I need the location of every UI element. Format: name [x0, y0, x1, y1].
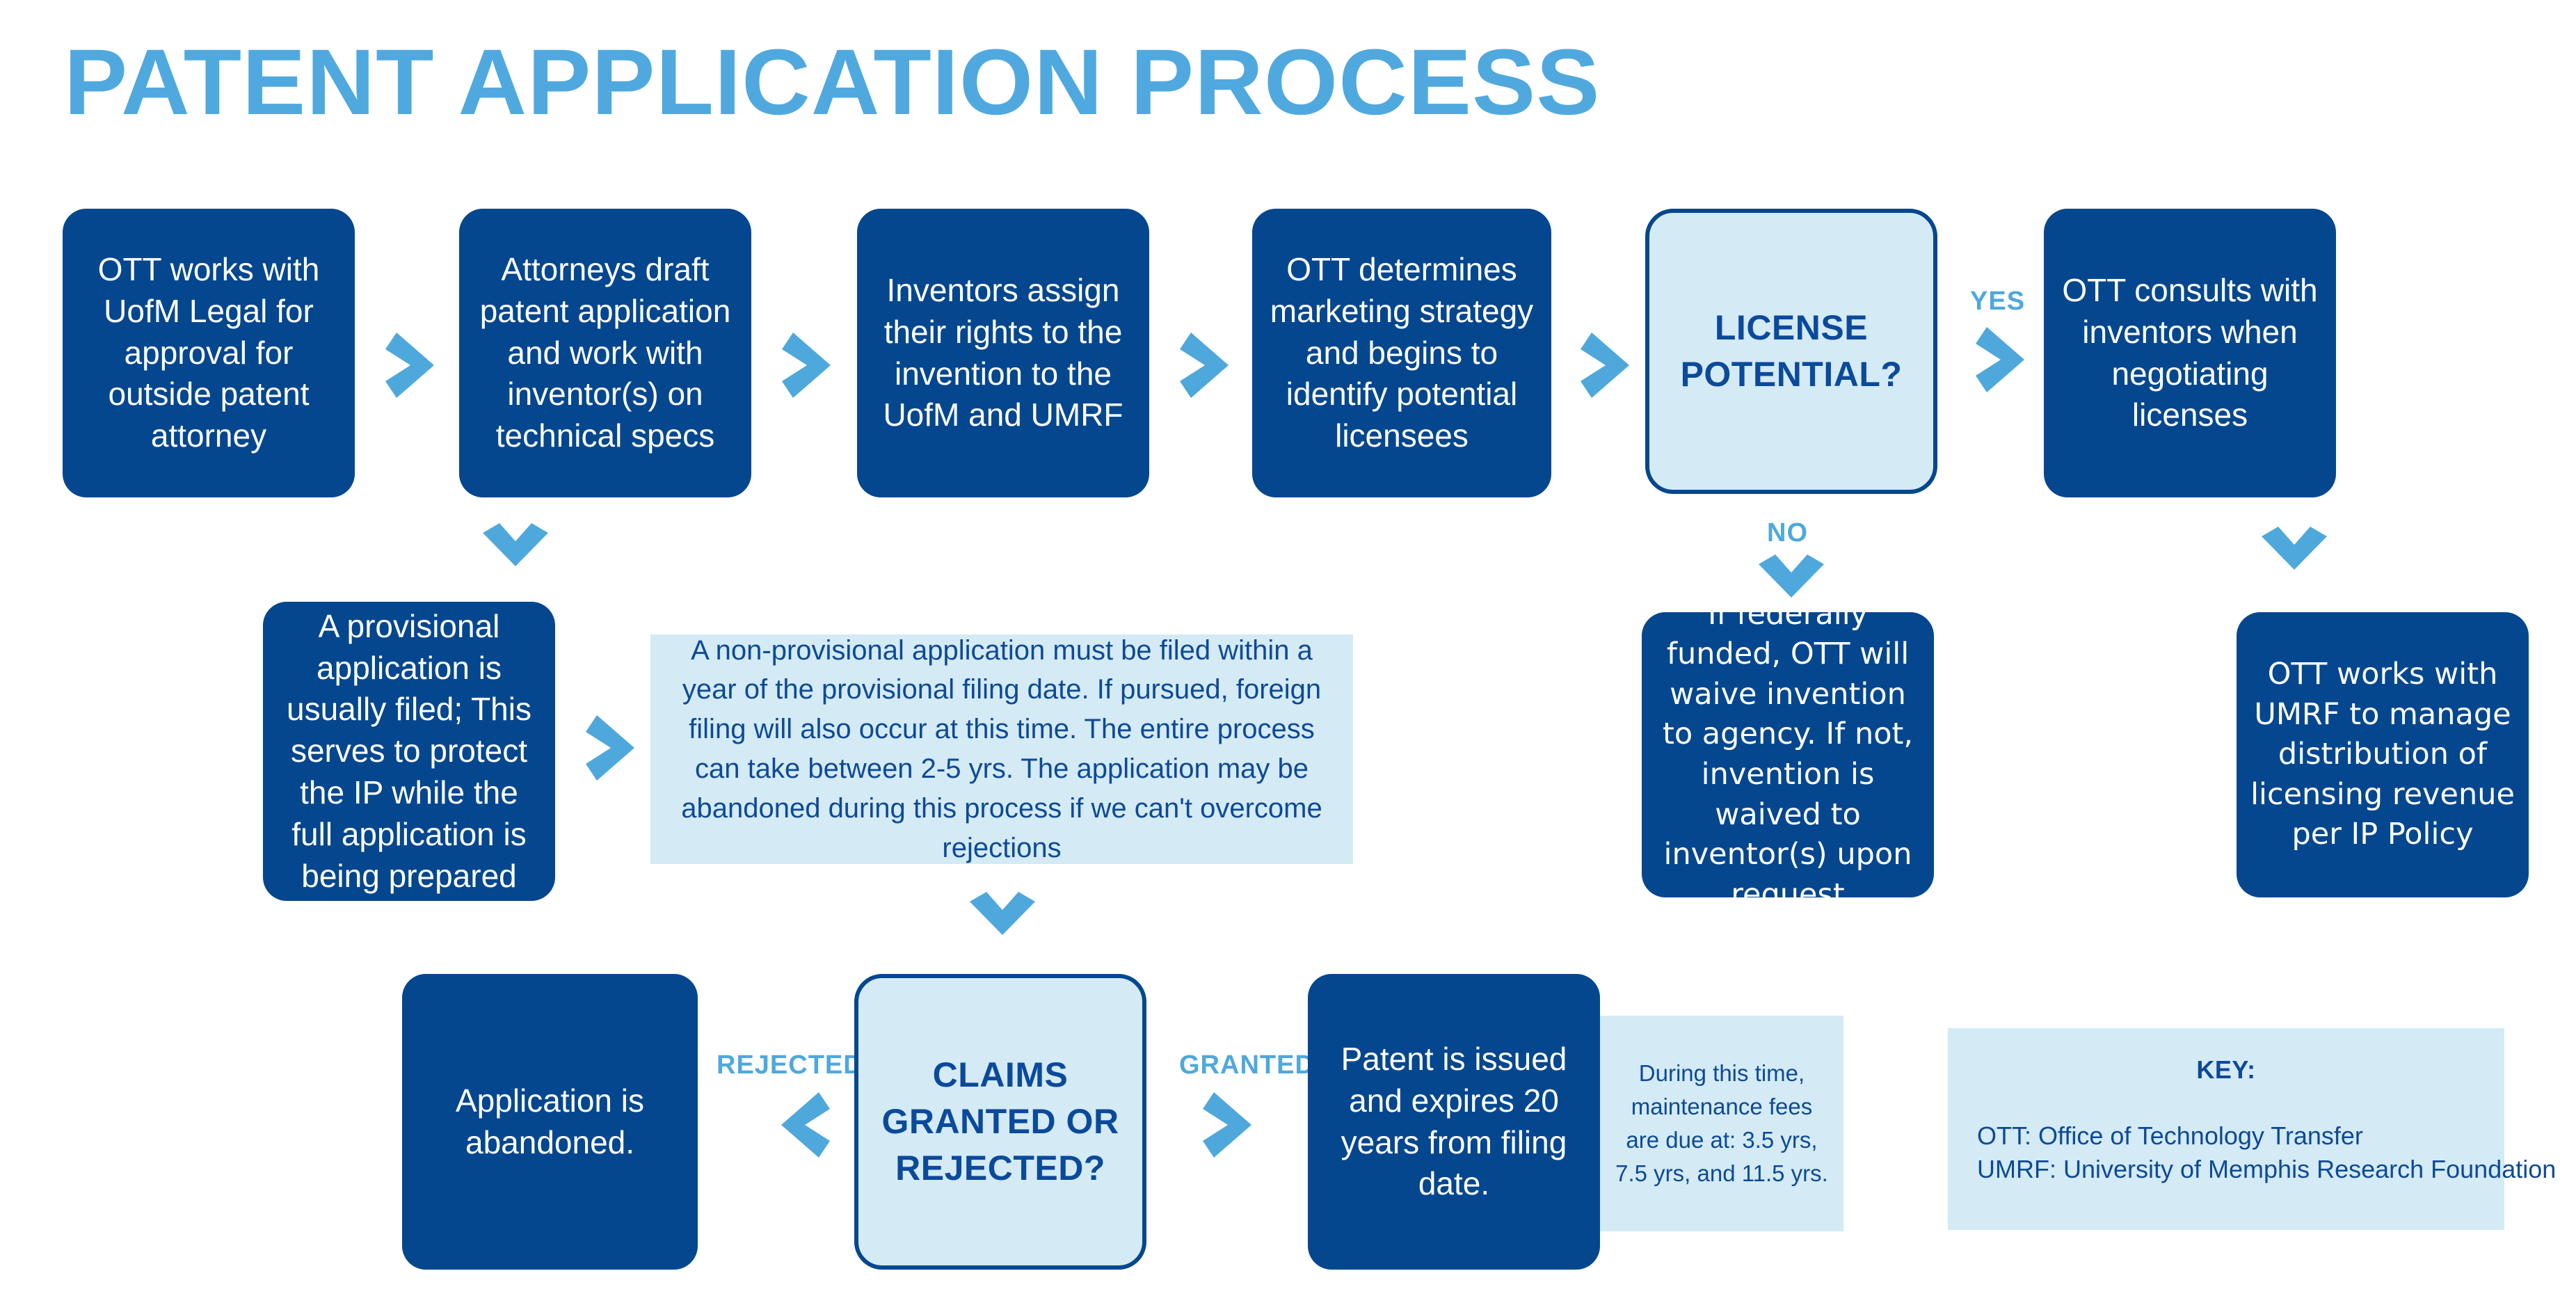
legend-line-umrf: UMRF: University of Memphis Research Fou… [1977, 1153, 2475, 1186]
branch-label-no: NO [1767, 518, 1808, 548]
arrow-right-step4-decision [1579, 327, 1652, 403]
node-step-federally-funded-label: If federally funded, OTT will waive inve… [1654, 595, 1921, 916]
note-maintenance-fees-text: During this time, maintenance fees are d… [1613, 1057, 1831, 1191]
arrow-right-step1-step2 [384, 327, 457, 403]
node-step-umrf-revenue[interactable]: OTT works with UMRF to manage distributi… [2237, 612, 2529, 897]
node-step-1-label: OTT works with UofM Legal for approval f… [75, 249, 342, 457]
node-step-provisional-application[interactable]: A provisional application is usually fil… [263, 602, 555, 901]
note-non-provisional-application-text: A non-provisional application must be fi… [663, 631, 1341, 868]
node-step-2[interactable]: Attorneys draft patent application and w… [459, 209, 751, 497]
node-step-4[interactable]: OTT determines marketing strategy and be… [1252, 209, 1551, 497]
arrow-right-provisional-note [584, 710, 657, 786]
node-step-3[interactable]: Inventors assign their rights to the inv… [857, 209, 1149, 497]
flowchart-canvas: PATENT APPLICATION PROCESS OTT works wit… [0, 0, 2576, 1303]
arrow-right-yes-negotiate [1974, 321, 2047, 398]
node-step-umrf-revenue-label: OTT works with UMRF to manage distributi… [2249, 655, 2516, 855]
node-step-application-abandoned[interactable]: Application is abandoned. [402, 974, 698, 1270]
legend-title: KEY: [1977, 1052, 2475, 1087]
legend-line-ott: OTT: Office of Technology Transfer [1977, 1119, 2475, 1153]
arrow-left-rejected-abandoned [758, 1087, 831, 1163]
node-decision-claims-granted-rejected-label: CLAIMS GRANTED OR REJECTED? [871, 1052, 1130, 1192]
node-step-application-abandoned-label: Application is abandoned. [415, 1080, 685, 1164]
branch-label-granted: GRANTED [1179, 1050, 1315, 1080]
node-decision-license-potential-label: LICENSE POTENTIAL? [1662, 305, 1921, 398]
arrow-down-step2-provisional [477, 522, 554, 584]
node-step-2-label: Attorneys draft patent application and w… [472, 249, 739, 457]
arrow-down-note-claims-decision [964, 890, 1041, 953]
node-decision-claims-granted-rejected[interactable]: CLAIMS GRANTED OR REJECTED? [854, 974, 1146, 1270]
node-step-negotiate-licenses[interactable]: OTT consults with inventors when negotia… [2044, 209, 2336, 497]
branch-label-rejected: REJECTED [717, 1050, 863, 1080]
node-step-patent-issued[interactable]: Patent is issued and expires 20 years fr… [1308, 974, 1600, 1270]
node-step-3-label: Inventors assign their rights to the inv… [870, 270, 1137, 436]
node-decision-license-potential[interactable]: LICENSE POTENTIAL? [1645, 209, 1937, 494]
note-maintenance-fees: During this time, maintenance fees are d… [1600, 1016, 1843, 1231]
arrow-right-step3-step4 [1178, 327, 1251, 403]
node-step-patent-issued-label: Patent is issued and expires 20 years fr… [1320, 1039, 1587, 1205]
node-step-federally-funded[interactable]: If federally funded, OTT will waive inve… [1642, 612, 1934, 897]
arrow-down-negotiate-umrf [2256, 525, 2333, 588]
node-step-negotiate-licenses-label: OTT consults with inventors when negotia… [2056, 270, 2323, 436]
node-step-provisional-application-label: A provisional application is usually fil… [275, 606, 543, 897]
branch-label-yes: YES [1970, 287, 2025, 317]
node-step-1[interactable]: OTT works with UofM Legal for approval f… [63, 209, 355, 497]
page-title: PATENT APPLICATION PROCESS [64, 36, 1600, 129]
arrow-right-granted-patent-issued [1201, 1087, 1274, 1163]
node-step-4-label: OTT determines marketing strategy and be… [1265, 249, 1539, 457]
arrow-right-step2-step3 [781, 327, 854, 403]
legend-key-box: KEY: OTT: Office of Technology Transfer … [1948, 1028, 2504, 1230]
note-non-provisional-application: A non-provisional application must be fi… [650, 634, 1353, 864]
